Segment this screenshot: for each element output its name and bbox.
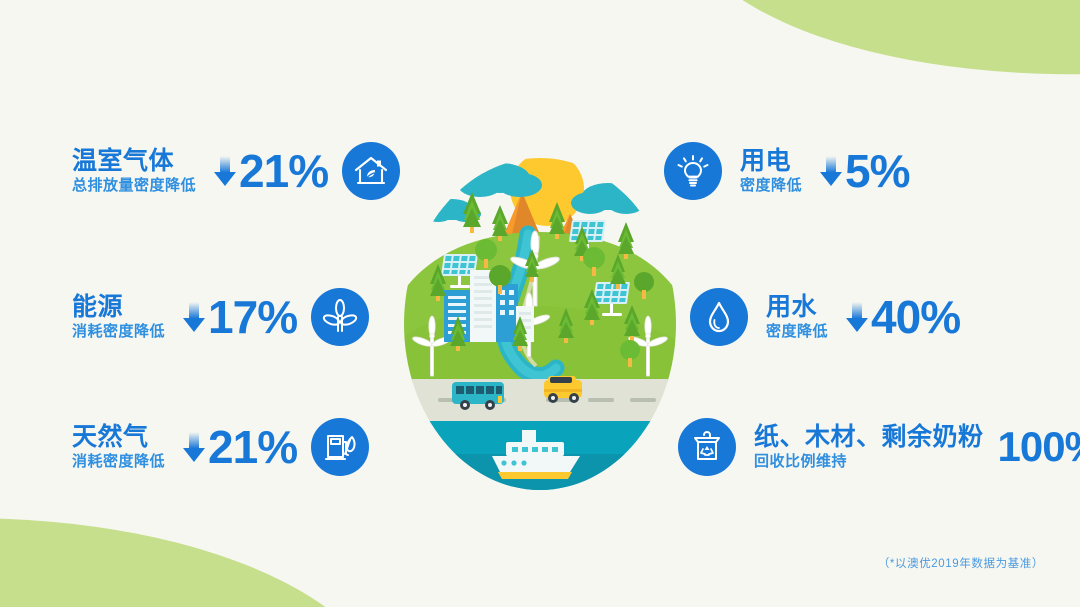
stat-electricity: 用电 密度降低 5 % bbox=[664, 142, 910, 200]
decorative-corner-top-right bbox=[674, 0, 1080, 104]
water-drop-icon bbox=[690, 288, 748, 346]
stat-number: 100 bbox=[998, 423, 1065, 471]
arrow-down-icon bbox=[844, 300, 870, 334]
footnote: （*以澳优2019年数据为基准） bbox=[878, 555, 1044, 571]
stat-subtitle: 密度降低 bbox=[766, 324, 828, 339]
stat-subtitle: 回收比例维持 bbox=[754, 454, 984, 469]
stat-value: 100 % bbox=[998, 423, 1080, 471]
stat-value: 5 % bbox=[818, 144, 910, 198]
arrow-down-icon bbox=[818, 154, 844, 188]
stat-title: 用电 bbox=[740, 149, 802, 175]
stat-text-block: 能源 消耗密度降低 bbox=[72, 295, 165, 339]
stat-title: 温室气体 bbox=[72, 149, 196, 175]
stat-title: 能源 bbox=[72, 295, 165, 321]
stat-unit: % bbox=[870, 144, 910, 198]
stat-value: 40 % bbox=[844, 290, 960, 344]
stat-number: 5 bbox=[845, 144, 870, 198]
eco-house-icon bbox=[342, 142, 400, 200]
arrow-down-icon bbox=[181, 300, 207, 334]
arrow-down-icon bbox=[181, 430, 207, 464]
stat-title: 用水 bbox=[766, 295, 828, 321]
infographic-canvas: 温室气体 总排放量密度降低 21 % bbox=[0, 0, 1080, 607]
stat-number: 17 bbox=[208, 290, 257, 344]
stat-subtitle: 消耗密度降低 bbox=[72, 454, 165, 469]
recycle-bin-icon bbox=[678, 418, 736, 476]
stat-natural-gas: 天然气 消耗密度降低 21 % bbox=[72, 418, 369, 476]
stat-text-block: 用电 密度降低 bbox=[740, 149, 802, 193]
stat-value: 21 % bbox=[212, 144, 328, 198]
wind-turbine-icon bbox=[311, 288, 369, 346]
decorative-corner-bottom-left bbox=[0, 495, 395, 607]
stat-unit: % bbox=[257, 420, 297, 474]
stat-unit: % bbox=[288, 144, 328, 198]
stat-unit: % bbox=[257, 290, 297, 344]
stat-energy: 能源 消耗密度降低 17 % bbox=[72, 288, 369, 346]
stat-recycling: 纸、木材、剩余奶粉 回收比例维持 100 % bbox=[678, 418, 1080, 476]
arrow-down-icon bbox=[212, 154, 238, 188]
stat-unit: % bbox=[1065, 423, 1080, 471]
fuel-pump-leaf-icon bbox=[311, 418, 369, 476]
stat-number: 21 bbox=[239, 144, 288, 198]
stat-greenhouse-gas: 温室气体 总排放量密度降低 21 % bbox=[72, 142, 400, 200]
stat-value: 21 % bbox=[181, 420, 297, 474]
stat-text-block: 用水 密度降低 bbox=[766, 295, 828, 339]
stat-number: 40 bbox=[871, 290, 920, 344]
green-earth-illustration bbox=[404, 154, 676, 490]
stat-subtitle: 消耗密度降低 bbox=[72, 324, 165, 339]
stat-subtitle: 密度降低 bbox=[740, 178, 802, 193]
stat-text-block: 天然气 消耗密度降低 bbox=[72, 425, 165, 469]
stat-title: 纸、木材、剩余奶粉 bbox=[754, 425, 984, 451]
stat-unit: % bbox=[920, 290, 960, 344]
stat-title: 天然气 bbox=[72, 425, 165, 451]
stat-text-block: 纸、木材、剩余奶粉 回收比例维持 bbox=[754, 425, 984, 469]
stat-water: 用水 密度降低 40 % bbox=[690, 288, 960, 346]
stat-subtitle: 总排放量密度降低 bbox=[72, 178, 196, 193]
light-bulb-icon bbox=[664, 142, 722, 200]
stat-number: 21 bbox=[208, 420, 257, 474]
stat-value: 17 % bbox=[181, 290, 297, 344]
stat-text-block: 温室气体 总排放量密度降低 bbox=[72, 149, 196, 193]
